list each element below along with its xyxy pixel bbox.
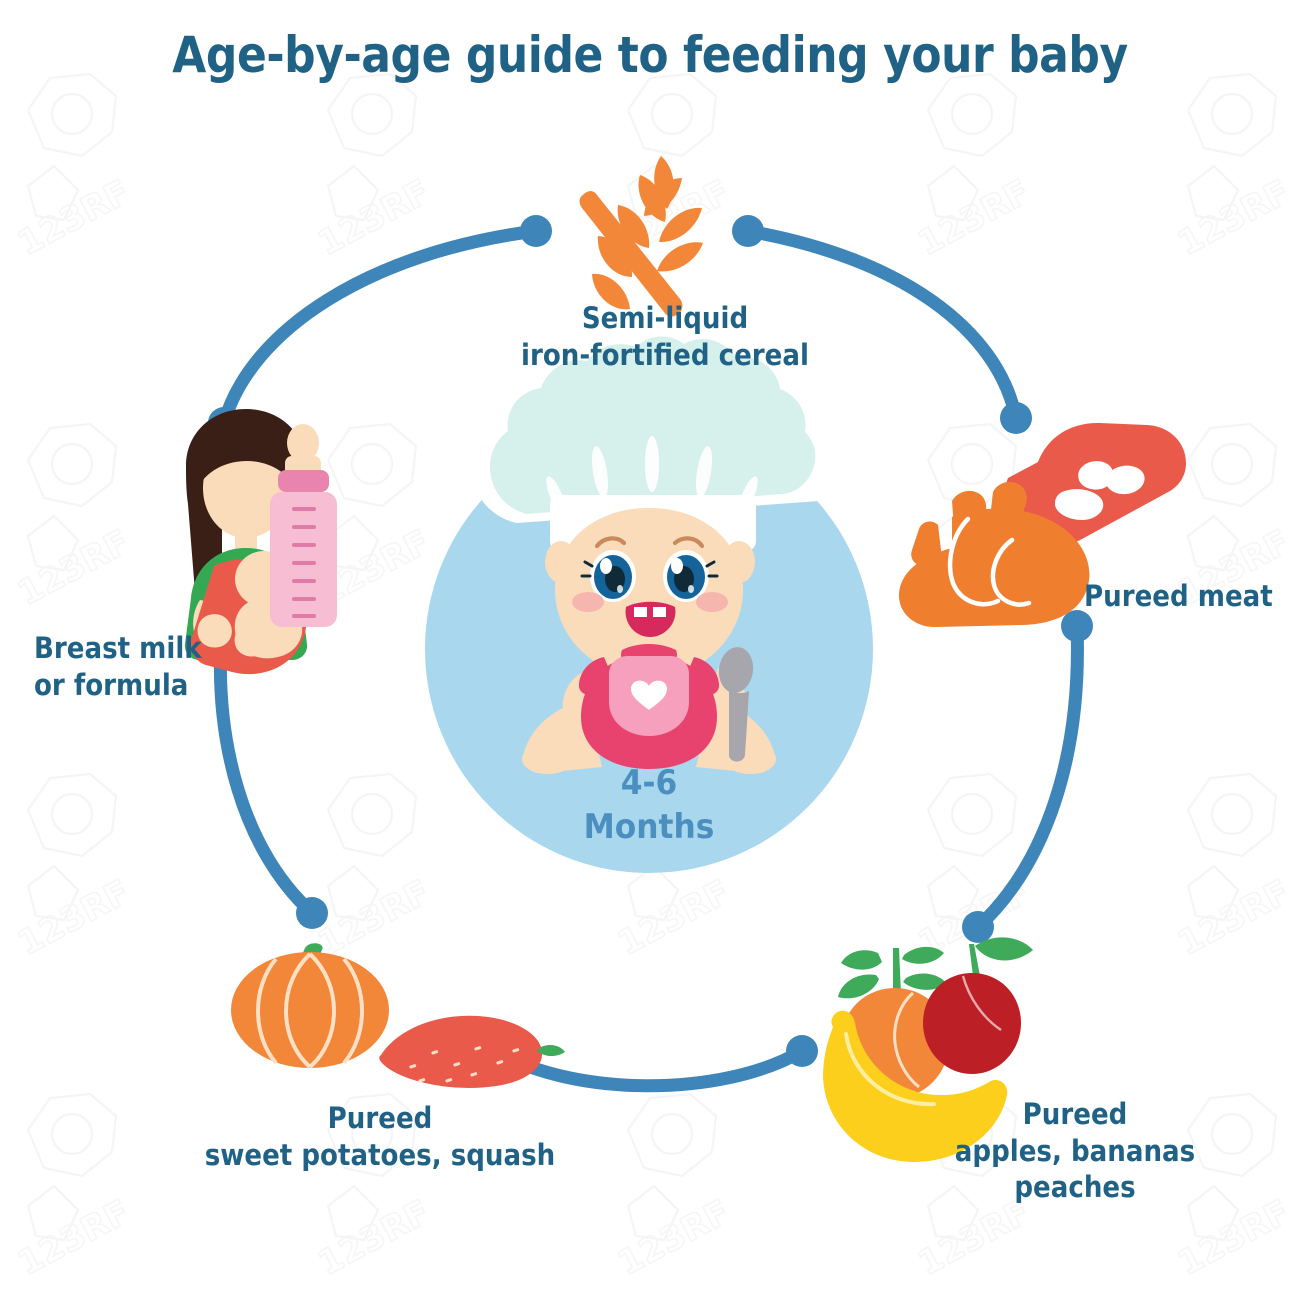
infographic-canvas: 123RF <box>0 0 1300 1300</box>
center-age-label: 4-6 Months <box>443 762 855 849</box>
node-label-cereal: Semi-liquid iron-fortified cereal <box>454 300 877 373</box>
node-label-fruit: Pureed apples, bananas peaches <box>927 1096 1224 1206</box>
node-label-milk: Breast milk or formula <box>34 630 295 703</box>
page-title: Age-by-age guide to feeding your baby <box>78 26 1222 84</box>
node-label-vegetables: Pureed sweet potatoes, squash <box>169 1100 592 1173</box>
node-label-meat: Pureed meat <box>1084 578 1273 615</box>
